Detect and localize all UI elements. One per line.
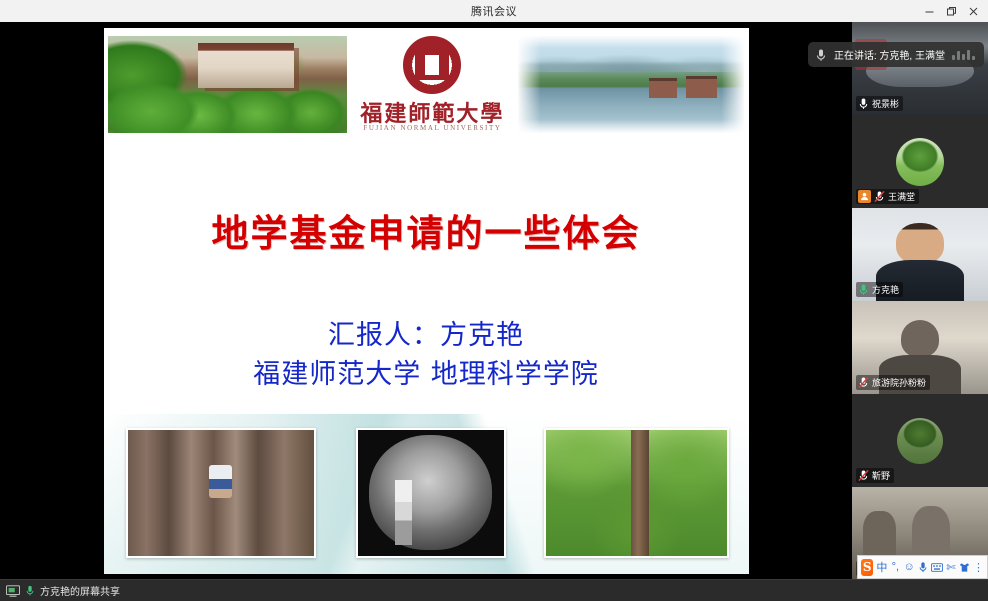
participant-name: 旅游院孙粉粉 — [872, 376, 926, 389]
voice-input-icon[interactable] — [918, 558, 928, 576]
minimize-button[interactable] — [918, 0, 940, 22]
tree-coring-fieldwork-photo — [544, 428, 729, 558]
mic-muted-icon — [858, 469, 869, 482]
mic-muted-icon — [874, 190, 885, 203]
restore-button[interactable] — [940, 0, 962, 22]
participant-tile-1[interactable]: 祝景彬 — [852, 22, 988, 115]
window-title-bar: 腾讯会议 — [0, 0, 988, 22]
participant-name: 祝景彬 — [872, 97, 899, 110]
presenter-line: 汇报人：方克艳 — [104, 316, 749, 355]
window-title: 腾讯会议 — [471, 3, 517, 19]
campus-buildings-photo — [104, 30, 349, 147]
participant-label: 祝景彬 — [856, 96, 903, 111]
screenshot-icon[interactable]: ✄ — [946, 558, 956, 576]
mic-muted-icon — [858, 376, 869, 389]
mic-on-icon — [25, 584, 35, 597]
audio-wave-icon — [952, 49, 975, 60]
presentation-slide: 福建師範大學 FUJIAN NORMAL UNIVERSITY 地学基金申请的一… — [104, 28, 749, 574]
mic-on-icon — [858, 97, 869, 110]
host-badge-icon — [858, 190, 871, 203]
participant-sidebar[interactable]: 祝景彬 王满堂 — [852, 22, 988, 601]
participant-label: 王满堂 — [856, 189, 919, 204]
meeting-window: 福建師範大學 FUJIAN NORMAL UNIVERSITY 地学基金申请的一… — [0, 22, 988, 601]
university-name-en: FUJIAN NORMAL UNIVERSITY — [349, 124, 517, 132]
skin-icon[interactable] — [959, 558, 970, 576]
slide-subtitle: 汇报人：方克艳 福建师范大学 地理科学学院 — [104, 316, 749, 394]
participant-label: 方克艳 — [856, 282, 903, 297]
campus-lake-photo — [516, 30, 748, 147]
participant-name: 方克艳 — [872, 283, 899, 296]
emoji-icon[interactable]: ☺ — [903, 558, 914, 576]
bottom-status-bar: 方克艳的屏幕共享 — [0, 579, 988, 601]
participant-tile-4[interactable]: 旅游院孙粉粉 — [852, 301, 988, 394]
participant-name: 王满堂 — [888, 190, 915, 203]
university-identity: 福建師範大學 FUJIAN NORMAL UNIVERSITY — [349, 30, 517, 147]
screen-share-icon — [6, 585, 20, 597]
shared-screen-area[interactable]: 福建師範大學 FUJIAN NORMAL UNIVERSITY 地学基金申请的一… — [0, 22, 852, 579]
more-icon[interactable]: ⋮ — [973, 558, 984, 576]
slide-footer-band — [104, 414, 749, 574]
mic-icon — [815, 48, 827, 62]
giant-sequoia-photo — [126, 428, 316, 558]
speaking-indicator-toast: 正在讲话: 方克艳, 王满堂 — [808, 42, 984, 67]
close-button[interactable] — [962, 0, 984, 22]
participant-tile-5[interactable]: 靳野 — [852, 394, 988, 487]
tree-cross-section-photo — [356, 428, 506, 558]
participant-label: 靳野 — [856, 468, 894, 483]
screen-share-status-label: 方克艳的屏幕共享 — [40, 583, 120, 598]
slide-header-band: 福建師範大學 FUJIAN NORMAL UNIVERSITY — [104, 30, 749, 147]
slide-title: 地学基金申请的一些体会 — [104, 203, 749, 257]
window-controls — [918, 0, 984, 22]
university-seal-icon — [403, 36, 461, 94]
sogou-logo-icon[interactable]: S — [861, 559, 873, 576]
participant-label: 旅游院孙粉粉 — [856, 375, 930, 390]
mic-on-icon — [858, 283, 869, 296]
chinese-mode-icon[interactable]: 中 — [876, 558, 887, 576]
speaking-label: 正在讲话: 方克艳, 王满堂 — [834, 47, 945, 62]
affiliation-line: 福建师范大学 地理科学学院 — [104, 355, 749, 394]
participant-tile-2[interactable]: 王满堂 — [852, 115, 988, 208]
punctuation-icon[interactable]: °, — [890, 558, 900, 576]
participant-tile-3[interactable]: 方克艳 — [852, 208, 988, 301]
soft-keyboard-icon[interactable] — [931, 558, 943, 576]
participant-name: 靳野 — [872, 469, 890, 482]
sogou-ime-toolbar[interactable]: S 中 °, ☺ ✄ ⋮ — [857, 555, 988, 579]
